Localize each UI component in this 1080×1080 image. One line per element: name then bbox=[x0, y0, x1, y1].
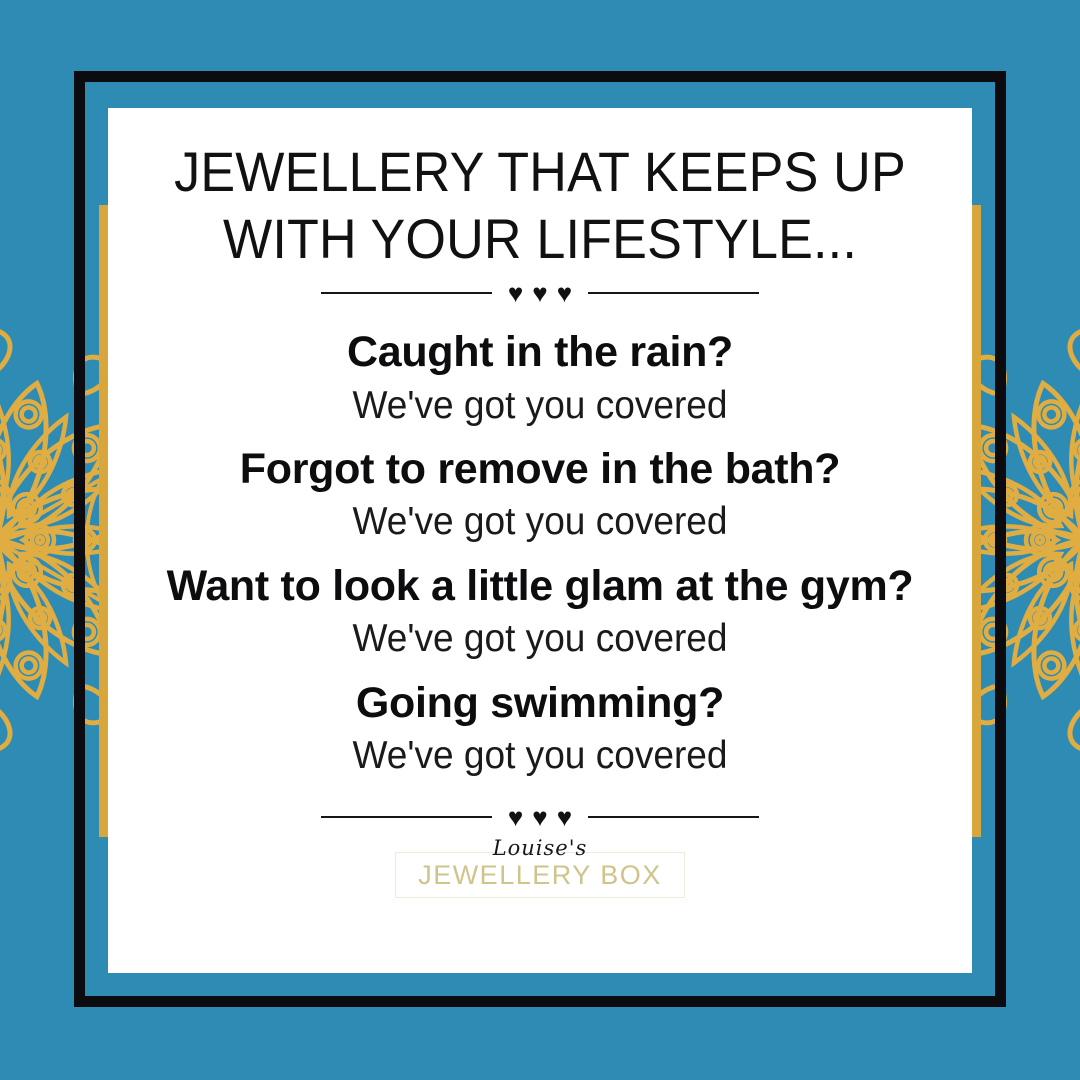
qa-answer: We've got you covered bbox=[151, 383, 930, 430]
qa-question: Forgot to remove in the bath? bbox=[130, 445, 950, 493]
heart-icon: ♥ bbox=[532, 804, 547, 830]
divider-rule-left bbox=[321, 292, 492, 294]
heart-icon: ♥ bbox=[557, 804, 572, 830]
qa-question: Want to look a little glam at the gym? bbox=[130, 562, 950, 610]
brand-logo: Louise's JEWELLERY BOX bbox=[395, 836, 685, 898]
divider-rule-left bbox=[321, 816, 492, 818]
heart-icon-group: ♥ ♥ ♥ bbox=[492, 804, 588, 830]
qa-question: Going swimming? bbox=[130, 679, 950, 727]
divider-rule-right bbox=[588, 292, 759, 294]
page-title: JEWELLERY THAT KEEPS UP WITH YOUR LIFEST… bbox=[168, 138, 912, 272]
brand-logo-script: Louise's bbox=[493, 836, 588, 860]
heart-icon: ♥ bbox=[557, 280, 572, 306]
qa-block: Want to look a little glam at the gym? W… bbox=[130, 562, 950, 663]
qa-answer: We've got you covered bbox=[151, 616, 930, 663]
heart-divider-top: ♥ ♥ ♥ bbox=[321, 280, 759, 306]
qa-answer: We've got you covered bbox=[151, 733, 930, 780]
qa-block: Caught in the rain? We've got you covere… bbox=[130, 328, 950, 429]
qa-block-list: Caught in the rain? We've got you covere… bbox=[130, 328, 950, 796]
heart-divider-bottom: ♥ ♥ ♥ bbox=[321, 804, 759, 830]
heart-icon-group: ♥ ♥ ♥ bbox=[492, 280, 588, 306]
divider-rule-right bbox=[588, 816, 759, 818]
white-content-card: JEWELLERY THAT KEEPS UP WITH YOUR LIFEST… bbox=[108, 108, 972, 973]
qa-block: Going swimming? We've got you covered bbox=[130, 679, 950, 780]
poster-canvas: JEWELLERY THAT KEEPS UP WITH YOUR LIFEST… bbox=[0, 0, 1080, 1080]
heart-icon: ♥ bbox=[508, 804, 523, 830]
qa-block: Forgot to remove in the bath? We've got … bbox=[130, 445, 950, 546]
qa-answer: We've got you covered bbox=[151, 499, 930, 546]
brand-logo-name: JEWELLERY BOX bbox=[418, 862, 662, 889]
heart-icon: ♥ bbox=[532, 280, 547, 306]
qa-question: Caught in the rain? bbox=[130, 328, 950, 376]
heart-icon: ♥ bbox=[508, 280, 523, 306]
